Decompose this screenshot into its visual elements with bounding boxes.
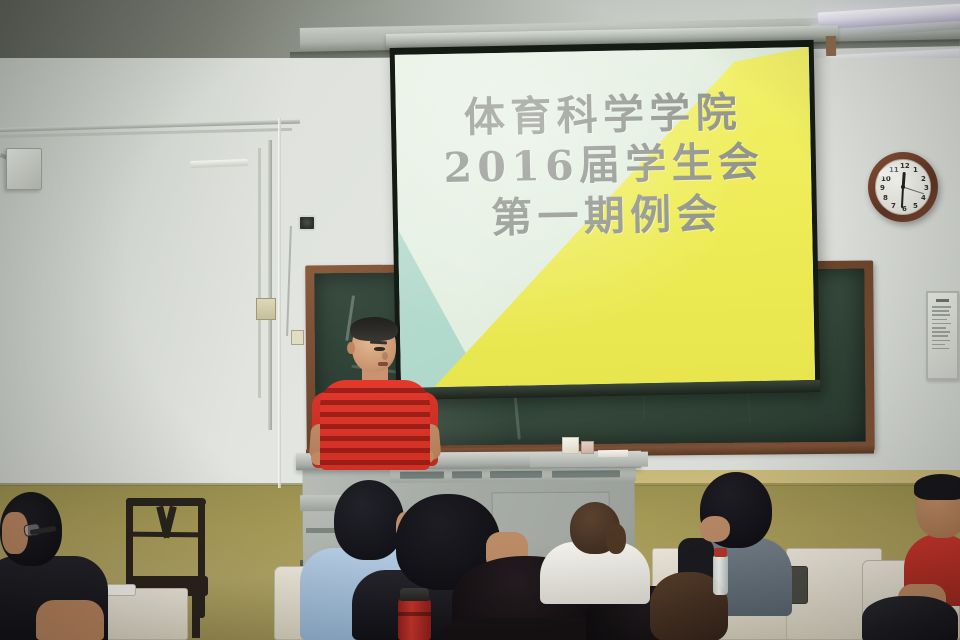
projection-screen: 体育科学学院 2016届学生会 第一期例会	[390, 40, 821, 400]
notice-text-line	[932, 344, 945, 346]
water-bottle[interactable]	[713, 555, 728, 595]
notice-text-line	[932, 323, 951, 325]
conduit-pipe-vertical-2	[258, 148, 261, 398]
clock-center-pin	[901, 185, 905, 189]
wall-outlet-dark-icon[interactable]	[298, 215, 316, 231]
notice-text-line	[932, 306, 951, 308]
red-thermos[interactable]	[398, 598, 431, 640]
presenter-ear	[347, 342, 355, 354]
notice-text-line	[932, 348, 949, 350]
clock-numeral: 2	[921, 176, 926, 183]
slide-title-line-1: 体育科学学院	[395, 86, 810, 145]
clock-numeral: 5	[913, 203, 918, 210]
clock-numeral: 1	[913, 167, 918, 174]
audience-neck	[700, 516, 730, 542]
slide-text-block: 体育科学学院 2016届学生会 第一期例会	[395, 74, 812, 246]
clock-numeral: 9	[880, 185, 885, 192]
clock-numeral: 7	[891, 203, 896, 210]
desk-papers[interactable]	[598, 450, 628, 458]
wall-speaker-icon	[6, 148, 42, 190]
framed-notice	[926, 291, 959, 380]
notice-text-line	[932, 335, 948, 337]
presenter-hair	[350, 317, 398, 341]
presenter-shirt	[320, 380, 430, 470]
wall-outlet-beige-icon[interactable]	[256, 298, 276, 320]
small-box[interactable]	[581, 441, 594, 454]
presenter-mouth	[378, 362, 388, 366]
conduit-pipe-vertical	[268, 140, 272, 430]
panel-slot	[400, 471, 444, 478]
slide-title-line-2: 2016届学生会	[396, 136, 811, 195]
audience-head	[334, 480, 404, 560]
clock-glass-glare	[877, 162, 905, 180]
presenter-nose	[382, 352, 388, 360]
notice-text-line	[932, 319, 947, 321]
clock-numeral: 4	[921, 195, 926, 202]
presenter-eye	[374, 347, 385, 351]
slide-title-line-3: 第一期例会	[397, 187, 812, 246]
projection-screen-surface: 体育科学学院 2016届学生会 第一期例会	[395, 47, 815, 388]
audience-ponytail	[606, 524, 626, 554]
clock-second-hand	[903, 187, 924, 195]
wall-corner-edge	[278, 118, 281, 488]
clock-numeral: 8	[883, 195, 888, 202]
audience-hair	[862, 596, 958, 640]
water-bottle-cap	[714, 548, 727, 557]
red-thermos-band	[398, 612, 431, 616]
notice-text-line	[932, 327, 946, 329]
presenter-shirt-stripes	[320, 380, 430, 470]
notice-text-line	[932, 314, 950, 316]
wall-clock: 12 1 2 3 4 5 6 7 8 9 10 11 12:30	[868, 152, 938, 222]
audience-arm	[36, 600, 104, 640]
audience-hair	[914, 474, 960, 500]
panel-slot	[452, 471, 482, 478]
clock-face: 12 1 2 3 4 5 6 7 8 9 10 11	[875, 159, 931, 215]
notice-text-line	[932, 310, 949, 312]
red-thermos-cap	[400, 588, 429, 601]
wall-switch-icon[interactable]	[291, 330, 304, 345]
panel-slot	[490, 471, 542, 478]
projection-screen-bracket	[826, 36, 836, 56]
notice-heading-bar	[936, 299, 949, 302]
notice-text-line	[932, 340, 950, 342]
panel-slot	[552, 470, 620, 477]
notice-text-line	[932, 331, 950, 333]
tissue-box[interactable]	[562, 437, 579, 454]
clock-numeral: 3	[924, 185, 929, 192]
classroom-photo: 体育科学学院 2016届学生会 第一期例会 12 1 2 3 4 5 6 7 8…	[0, 0, 960, 640]
